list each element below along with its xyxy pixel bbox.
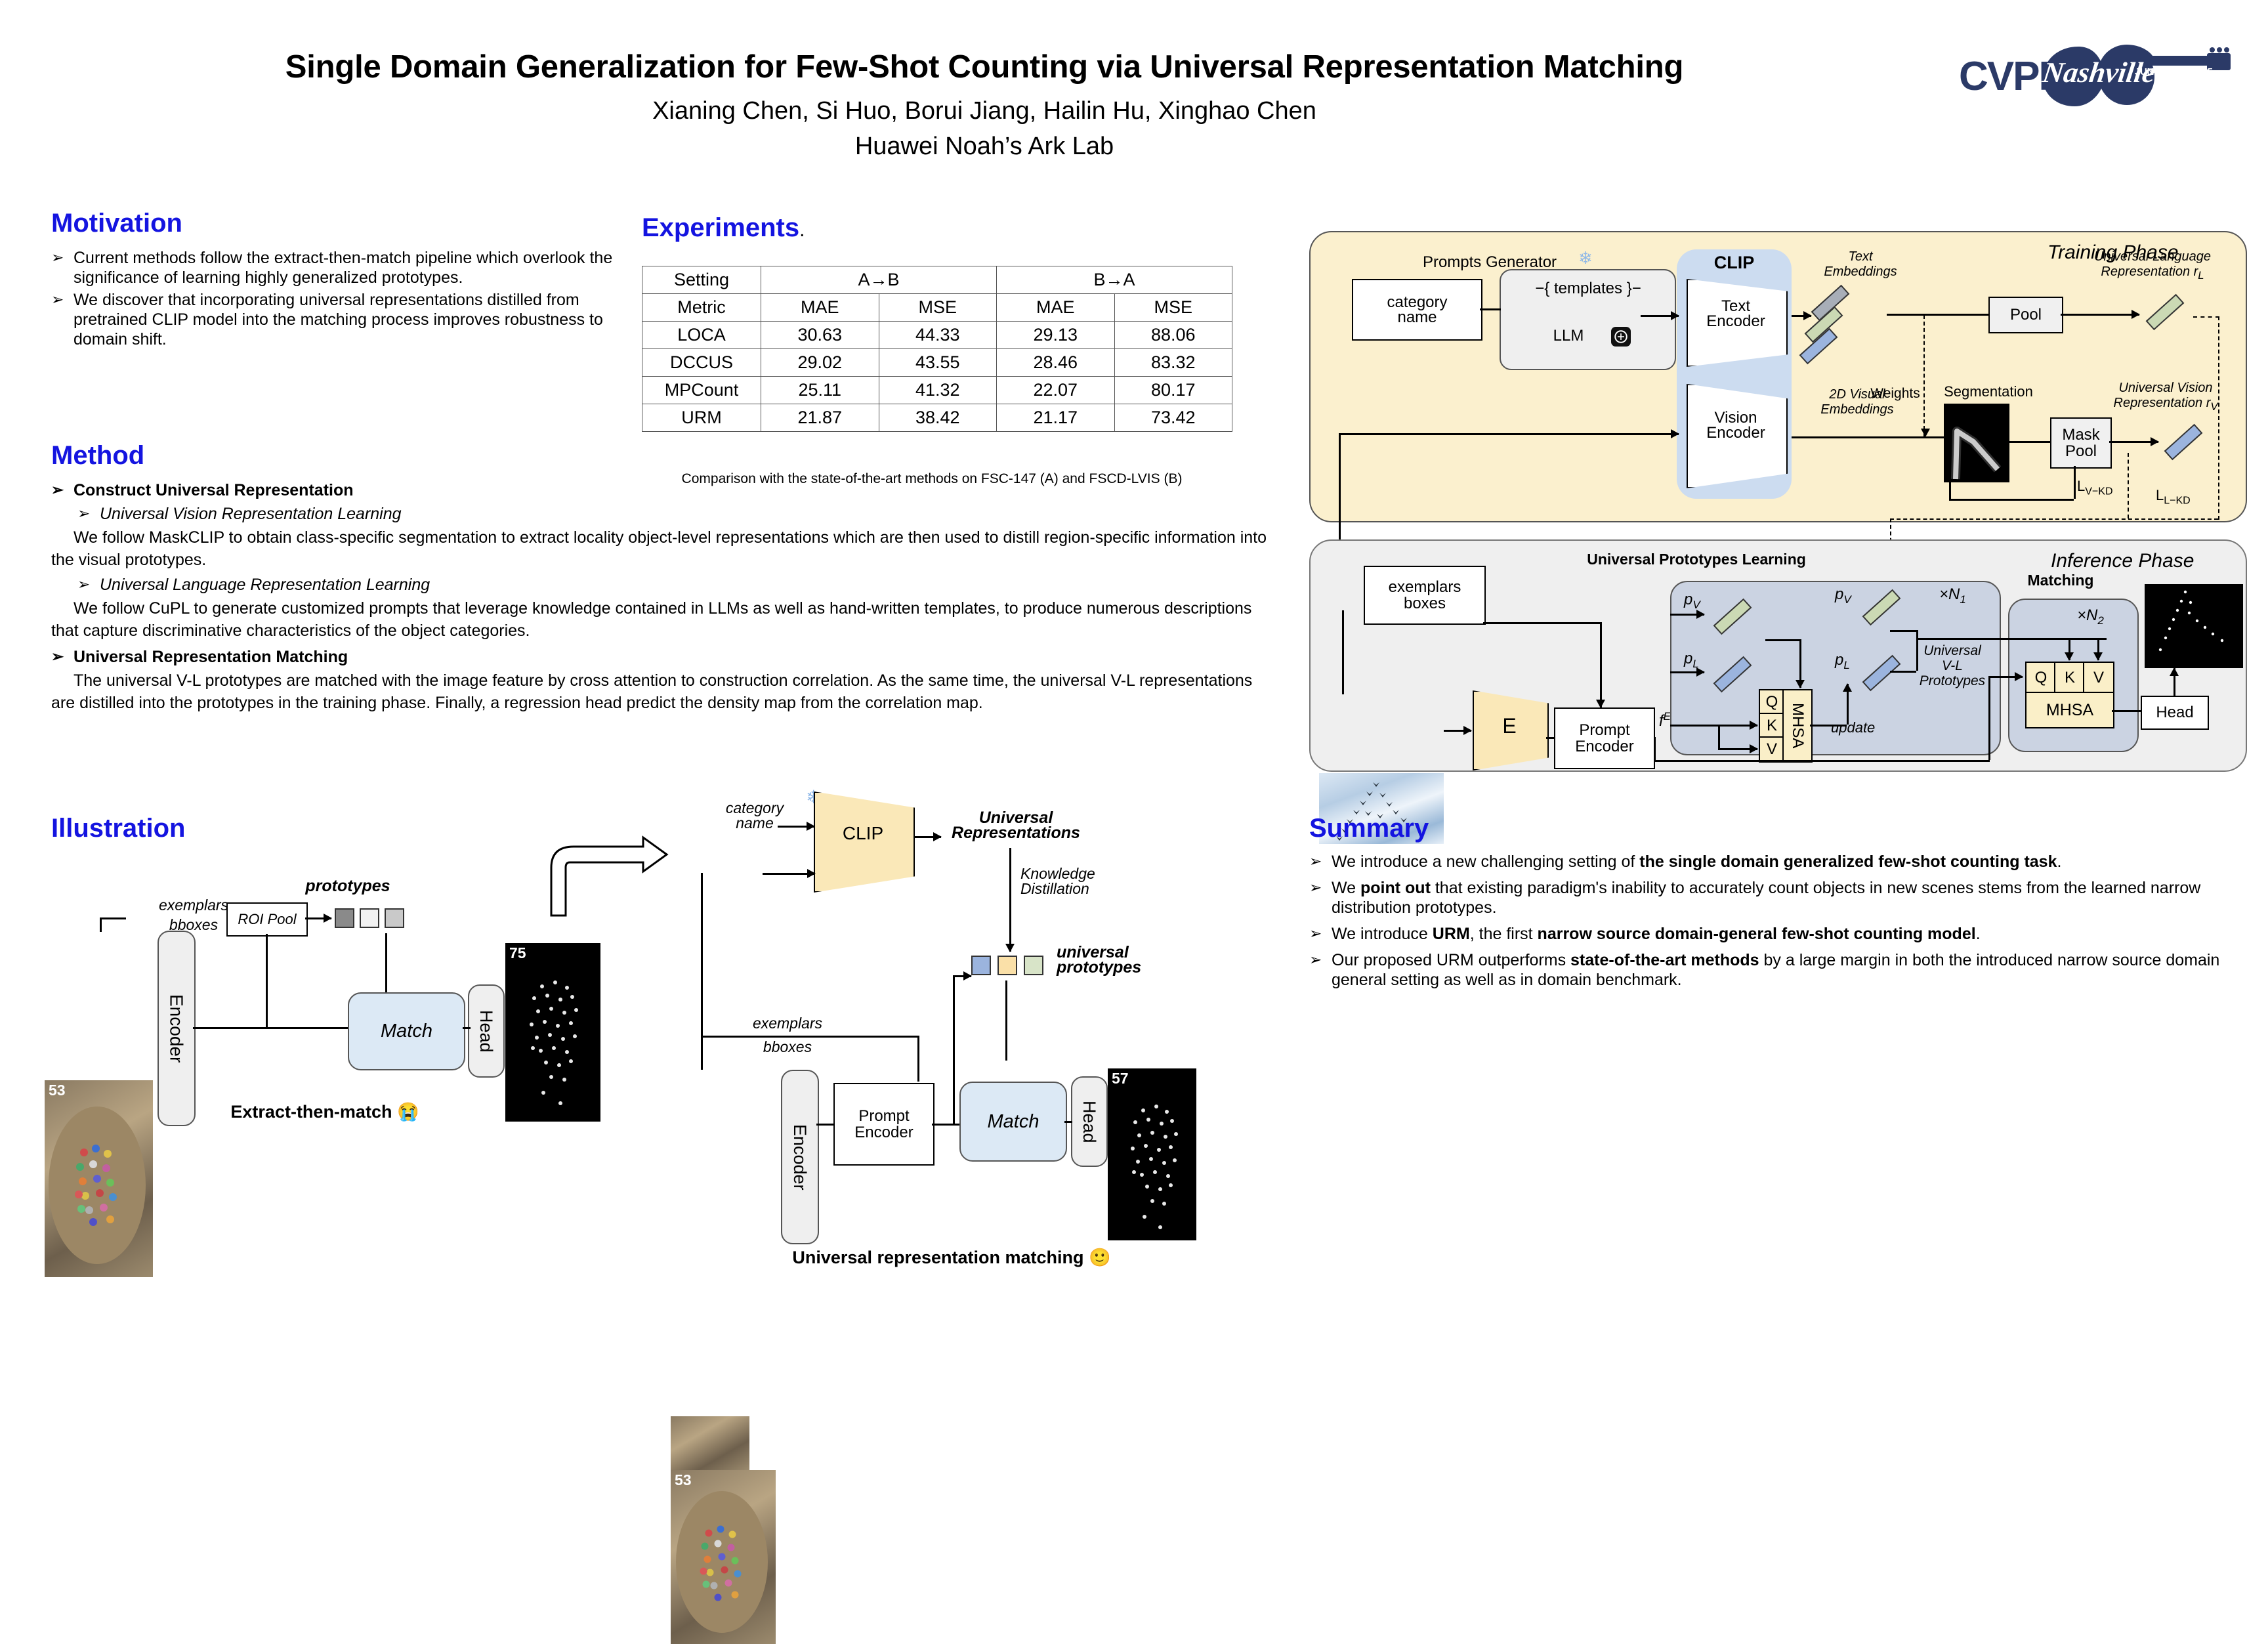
arrow [2061, 314, 2139, 316]
arrow [2109, 441, 2158, 443]
arrow [778, 826, 814, 828]
connector [1890, 630, 1916, 632]
connector [1916, 630, 1918, 671]
connector [1810, 725, 1847, 727]
openai-icon [1611, 327, 1631, 347]
connector [1654, 760, 1990, 762]
illustration-heading: Illustration [51, 814, 185, 843]
row-method-name: LOCA [642, 322, 761, 349]
cell: 22.07 [997, 377, 1115, 404]
connector [1005, 980, 1007, 1061]
inference-phase-label: Inference Phase [2051, 550, 2194, 572]
output-count-right: 57 [1112, 1070, 1129, 1087]
encoder-box-right: Encoder [781, 1070, 819, 1244]
exemplars-label-right: exemplars [722, 1016, 853, 1031]
universal-prototypes-label: universalprototypes [1057, 945, 1201, 975]
exemplars-boxes-box: exemplarsboxes [1364, 566, 1486, 625]
summary-bullet-1: We introduce a new challenging setting o… [1309, 852, 2248, 872]
cvpr-logo: CVPR Nashville JUNE 11-15, 2025 [1959, 36, 2235, 115]
output-count-left: 75 [509, 944, 526, 962]
density-output-right: 57 [1108, 1068, 1196, 1240]
cell: 80.17 [1114, 377, 1232, 404]
head-box-right: Head [1071, 1076, 1108, 1167]
method-paragraph-language: We follow CuPL to generate customized pr… [51, 597, 1278, 642]
connector [1765, 639, 1799, 641]
right-diagram-caption: Universal representation matching 🙂 [663, 1247, 1240, 1268]
q-cell-2: Q [2025, 662, 2057, 694]
connector [1988, 676, 1990, 760]
encoder-box-left: Encoder [157, 931, 196, 1126]
table-row: DCCUS 29.02 43.55 28.46 83.32 [642, 349, 1232, 377]
snowflake-icon: ❄ [1578, 248, 1593, 268]
connector [1890, 671, 1916, 673]
arrow [763, 873, 815, 875]
summary-bullet-3: We introduce URM, the first narrow sourc… [1309, 924, 2248, 944]
arrow [1670, 614, 1704, 616]
motivation-heading: Motivation [51, 209, 182, 238]
summary-bullet-2: We point out that existing paradigm's in… [1309, 878, 2248, 917]
n2-label: ×N2 [2077, 606, 2104, 627]
cell: 88.06 [1114, 322, 1232, 349]
table-header-setting-ab: A→B [761, 266, 997, 294]
connector [463, 1027, 471, 1029]
q-cell: Q [1759, 689, 1785, 715]
vision-rep-bar [2159, 420, 2212, 466]
author-list: Xianing Chen, Si Huo, Borui Jiang, Haili… [0, 97, 1969, 125]
row-method-name: URM [642, 404, 761, 432]
transition-arrow-icon [545, 833, 669, 919]
universal-vl-prototypes-label: UniversalV-LPrototypes [1906, 643, 1998, 688]
text-embeddings-label: TextEmbeddings [1801, 249, 1920, 280]
arrow [1988, 676, 2023, 678]
arrow [2097, 638, 2099, 660]
cell: 30.63 [761, 322, 879, 349]
universal-representations-label: UniversalRepresentations [937, 811, 1095, 841]
row-method-name: DCCUS [642, 349, 761, 377]
method-sub-vision: Universal Vision Representation Learning [77, 504, 1278, 524]
cell: 83.32 [1114, 349, 1232, 377]
arrow [1009, 848, 1011, 952]
arrow [1799, 639, 1801, 688]
clip-label-right: CLIP [814, 826, 912, 841]
universal-prototype-cubes [971, 950, 1063, 980]
cell: 25.11 [761, 377, 879, 404]
cell: 44.33 [879, 322, 997, 349]
table-row: LOCA 30.63 44.33 29.13 88.06 [642, 322, 1232, 349]
vision-encoder-label: VisionEncoder [1687, 410, 1785, 440]
upl-title: Universal Prototypes Learning [1585, 551, 1808, 567]
segmentation-label: Segmentation [1929, 384, 2047, 399]
pool-box: Pool [1988, 297, 2063, 333]
input-count-left: 53 [49, 1082, 66, 1099]
clip-label: CLIP [1677, 255, 1792, 270]
spacer [671, 1416, 749, 1470]
prompts-generator-label: Prompts Generator [1401, 255, 1578, 270]
k-cell-2: K [2054, 662, 2086, 694]
summary-heading: Summary [1309, 814, 1429, 843]
table-header-setting-ba: B→A [997, 266, 1232, 294]
connector [1064, 1121, 1072, 1123]
connector [1342, 610, 1344, 694]
method-heading: Method [51, 441, 144, 471]
cell: 21.87 [761, 404, 879, 432]
roi-pool-box: ROI Pool [226, 902, 308, 937]
arrow [1847, 684, 1849, 725]
connector [100, 917, 126, 919]
connector [1654, 737, 1656, 760]
density-output-left: 75 [505, 943, 600, 1122]
arrow [2173, 668, 2175, 696]
connector [1718, 725, 1720, 748]
connector [701, 1036, 917, 1038]
cell: 28.46 [997, 349, 1115, 377]
affiliation: Huawei Noah’s Ark Lab [0, 133, 1969, 161]
method-paragraph-vision: We follow MaskCLIP to obtain class-speci… [51, 526, 1278, 571]
arrow [1641, 315, 1679, 317]
visual-embeddings-label: 2D VisualEmbeddings [1798, 387, 1916, 417]
arrow [1444, 730, 1471, 732]
method-bullet-matching: Universal Representation Matching [51, 647, 1278, 667]
dashed-line [2193, 316, 2219, 318]
table-metric-row: Metric MAE MSE MAE MSE [642, 294, 1232, 322]
pl2-label: pL [1835, 651, 1850, 672]
dashed-line [2218, 316, 2219, 520]
text-embeddings-bars [1798, 282, 1883, 368]
cell: 29.13 [997, 322, 1115, 349]
k-cell: K [1759, 713, 1785, 739]
method-sub-language: Universal Language Representation Learni… [77, 575, 1278, 595]
table-metric-mse-ba: MSE [1114, 294, 1232, 322]
table-header-row: Setting A→B B→A [642, 266, 1232, 294]
cell: 41.32 [879, 377, 997, 404]
connector [701, 873, 703, 1070]
pv2-label: pV [1835, 585, 1851, 606]
arrow [1792, 315, 1811, 317]
table-metric-mae-ab: MAE [761, 294, 879, 322]
table-row: URM 21.87 38.42 21.17 73.42 [642, 404, 1232, 432]
dashed-line [1890, 518, 2218, 520]
connector [1949, 436, 1951, 499]
connector [1483, 622, 1600, 624]
universal-language-rep-label: Universal LanguageRepresentation rL [2074, 249, 2231, 283]
summary-bullet-4: Our proposed URM outperforms state-of-th… [1309, 950, 2248, 990]
motivation-bullet: Current methods follow the extract-then-… [51, 248, 616, 287]
arrow [1670, 725, 1757, 727]
connector [816, 1124, 835, 1126]
table-header-metric: Metric [642, 294, 761, 322]
motivation-bullet: We discover that incorporating universal… [51, 290, 616, 349]
match-box-left: Match [348, 992, 465, 1070]
table-row: MPCount 25.11 41.32 22.07 80.17 [642, 377, 1232, 404]
cell: 29.02 [761, 349, 879, 377]
text-encoder-label: TextEncoder [1687, 299, 1785, 329]
cell: 21.17 [997, 404, 1115, 432]
row-method-name: MPCount [642, 377, 761, 404]
input-image-right: 53 [671, 1470, 776, 1644]
table-metric-mse-ab: MSE [879, 294, 997, 322]
prototype-cubes-left [335, 903, 413, 933]
arrow [1600, 622, 1602, 707]
arrow [1670, 671, 1704, 673]
language-rep-bar [2141, 289, 2193, 335]
cell: 73.42 [1114, 404, 1232, 432]
method-paragraph-matching: The universal V-L prototypes are matched… [51, 669, 1278, 714]
connector [1949, 499, 2074, 501]
head-box-left: Head [468, 984, 505, 1078]
prototypes-label: prototypes [289, 878, 407, 894]
connector [266, 934, 268, 1027]
mhsa-block-2: MHSA [2025, 692, 2114, 728]
weights-dashed-arrow [1923, 315, 1925, 436]
bboxes-label-right: bboxes [722, 1040, 853, 1055]
connector [953, 975, 955, 1124]
results-table: Setting A→B B→A Metric MAE MSE MAE MSE L… [642, 266, 1232, 432]
connector [2112, 710, 2142, 712]
pv-bar [1710, 599, 1762, 638]
segmentation-image [1944, 404, 2009, 482]
loss-v-kd-label: LV−KD [2077, 478, 2113, 497]
category-name-box: categoryname [1352, 279, 1482, 341]
connector [1546, 737, 1555, 739]
summary-list: We introduce a new challenging setting o… [1309, 852, 2248, 990]
cell: 43.55 [879, 349, 997, 377]
dashed-line [2128, 453, 2129, 518]
mhsa-block-1: MHSA [1782, 689, 1813, 763]
conference-dates: JUNE 11-15, 2025 [2135, 66, 2213, 77]
matching-label: Matching [2008, 572, 2113, 588]
arrow [1339, 433, 1679, 435]
head-box: Head [2141, 696, 2209, 730]
left-diagram-caption: Extract-then-match 😭 [79, 1101, 571, 1122]
n1-label: ×N1 [1939, 585, 1966, 606]
arrow [1718, 748, 1757, 750]
experiments-heading: Experiments. [642, 213, 805, 243]
connector [1916, 638, 2107, 640]
pl-bar [1710, 656, 1762, 696]
pv2-bar [1858, 591, 1911, 630]
encoder-letter-label: E [1473, 719, 1546, 734]
input-count-right: 53 [675, 1471, 692, 1489]
prompt-encoder-box-right: PromptEncoder [833, 1083, 934, 1166]
pv-label: pV [1684, 591, 1700, 612]
table-metric-mae-ba: MAE [997, 294, 1115, 322]
table-caption: Comparison with the state-of-the-art met… [571, 471, 1293, 487]
arrow [953, 975, 971, 977]
templates-label: −{ templates }− [1522, 281, 1654, 296]
connector [2009, 441, 2050, 443]
connector [1792, 436, 1949, 438]
table-header-setting: Setting [642, 266, 761, 294]
connector [917, 1036, 919, 1082]
connector [1480, 308, 1501, 310]
loss-l-kd-label: LL−KD [2156, 487, 2191, 507]
llm-label: LLM [1529, 328, 1608, 343]
v-cell-2: V [2083, 662, 2114, 694]
knowledge-distillation-label: KnowledgeDistillation [1020, 866, 1152, 896]
v-cell: V [1759, 736, 1785, 763]
arrow [2068, 638, 2070, 660]
cell: 38.42 [879, 404, 997, 432]
connector [2074, 466, 2076, 499]
arrow [305, 917, 331, 919]
match-box-right: Match [959, 1082, 1067, 1162]
connector [193, 1027, 350, 1029]
page-title: Single Domain Generalization for Few-Sho… [0, 49, 1969, 85]
feature-label: fE [1659, 710, 1671, 730]
pl2-bar [1858, 656, 1911, 696]
connector [100, 917, 102, 932]
density-map-output [2145, 584, 2243, 668]
prompt-encoder-box: PromptEncoder [1554, 707, 1655, 769]
mask-pool-box: MaskPool [2050, 417, 2112, 469]
update-label: update [1831, 719, 1875, 736]
